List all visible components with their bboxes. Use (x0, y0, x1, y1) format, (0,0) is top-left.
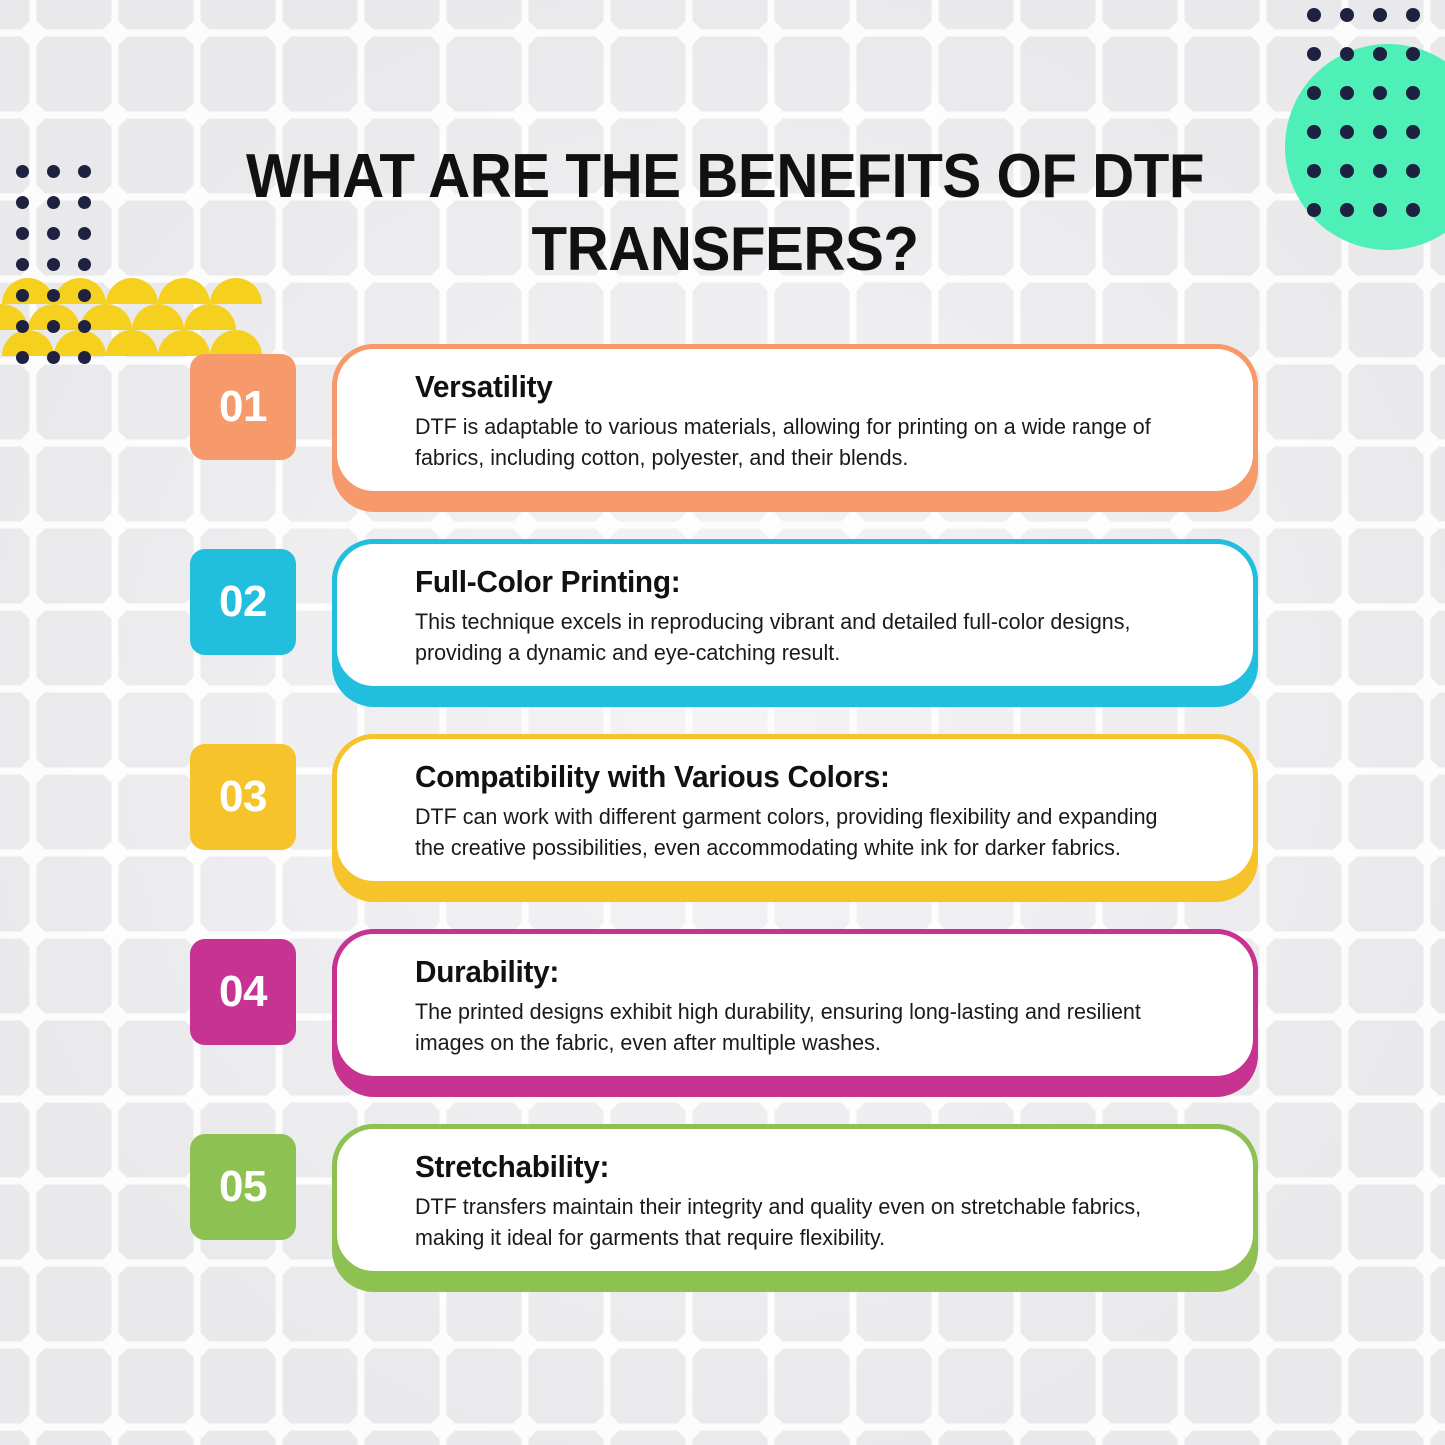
benefit-card: Compatibility with Various Colors:DTF ca… (0, 730, 1445, 925)
infographic-content: WHAT ARE THE BENEFITS OF DTF TRANSFERS? … (0, 0, 1445, 1445)
card-panel: Stretchability:DTF transfers maintain th… (332, 1124, 1258, 1276)
card-title: Full-Color Printing: (415, 564, 1187, 600)
benefit-card: Full-Color Printing:This technique excel… (0, 535, 1445, 730)
card-panel: VersatilityDTF is adaptable to various m… (332, 344, 1258, 496)
card-number-badge: 04 (190, 939, 296, 1045)
benefit-card: Durability:The printed designs exhibit h… (0, 925, 1445, 1120)
card-body-text: The printed designs exhibit high durabil… (415, 997, 1183, 1058)
card-body-text: DTF is adaptable to various materials, a… (415, 412, 1183, 473)
card-body-text: DTF transfers maintain their integrity a… (415, 1192, 1183, 1253)
card-number-badge: 01 (190, 354, 296, 460)
benefit-card: VersatilityDTF is adaptable to various m… (0, 340, 1445, 535)
card-title: Durability: (415, 954, 1187, 990)
benefits-list: VersatilityDTF is adaptable to various m… (0, 340, 1445, 1315)
card-panel: Compatibility with Various Colors:DTF ca… (332, 734, 1258, 886)
card-title: Stretchability: (415, 1149, 1187, 1185)
card-body-text: This technique excels in reproducing vib… (415, 607, 1183, 668)
card-title: Compatibility with Various Colors: (415, 759, 1187, 795)
card-body-text: DTF can work with different garment colo… (415, 802, 1183, 863)
card-title: Versatility (415, 369, 1187, 405)
benefit-card: Stretchability:DTF transfers maintain th… (0, 1120, 1445, 1315)
card-number-badge: 03 (190, 744, 296, 850)
card-panel: Durability:The printed designs exhibit h… (332, 929, 1258, 1081)
page-title: WHAT ARE THE BENEFITS OF DTF TRANSFERS? (203, 140, 1246, 286)
card-number-badge: 02 (190, 549, 296, 655)
card-number-badge: 05 (190, 1134, 296, 1240)
card-panel: Full-Color Printing:This technique excel… (332, 539, 1258, 691)
